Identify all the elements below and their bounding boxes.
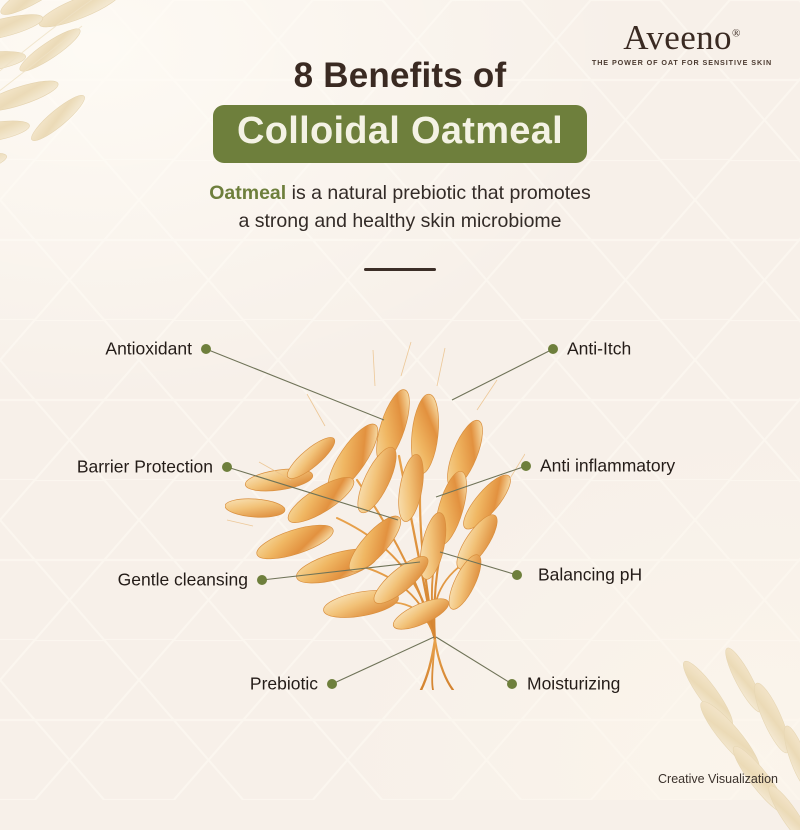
benefit-label-barrier-protection: Barrier Protection: [77, 458, 213, 476]
footer-note: Creative Visualization: [658, 772, 778, 786]
subtitle-highlight: Oatmeal: [209, 182, 286, 204]
benefit-label-prebiotic: Prebiotic: [250, 675, 318, 693]
benefit-label-anti-itch: Anti-Itch: [567, 340, 631, 358]
benefit-label-moisturizing: Moisturizing: [527, 675, 620, 693]
subtitle: Oatmeal is a natural prebiotic that prom…: [0, 180, 800, 235]
benefit-label-antioxidant: Antioxidant: [105, 340, 192, 358]
section-divider: [364, 268, 436, 271]
page-title: 8 Benefits of: [0, 56, 800, 96]
title-block: 8 Benefits of Colloidal Oatmeal Oatmeal …: [0, 56, 800, 271]
registered-trademark-icon: ®: [732, 27, 741, 39]
oat-bundle-illustration: [225, 330, 525, 690]
brand-logo-wordmark: Aveeno®: [590, 20, 774, 55]
benefit-label-balancing-ph: Balancing pH: [538, 566, 642, 584]
subtitle-line1: is a natural prebiotic that promotes: [286, 182, 591, 204]
benefit-label-anti-inflammatory: Anti inflammatory: [540, 457, 675, 475]
highlight-banner: Colloidal Oatmeal: [213, 105, 587, 163]
benefit-label-gentle-cleansing: Gentle cleansing: [118, 571, 248, 589]
brand-logo-name: Aveeno: [623, 18, 732, 57]
subtitle-line2: a strong and healthy skin microbiome: [239, 210, 562, 232]
